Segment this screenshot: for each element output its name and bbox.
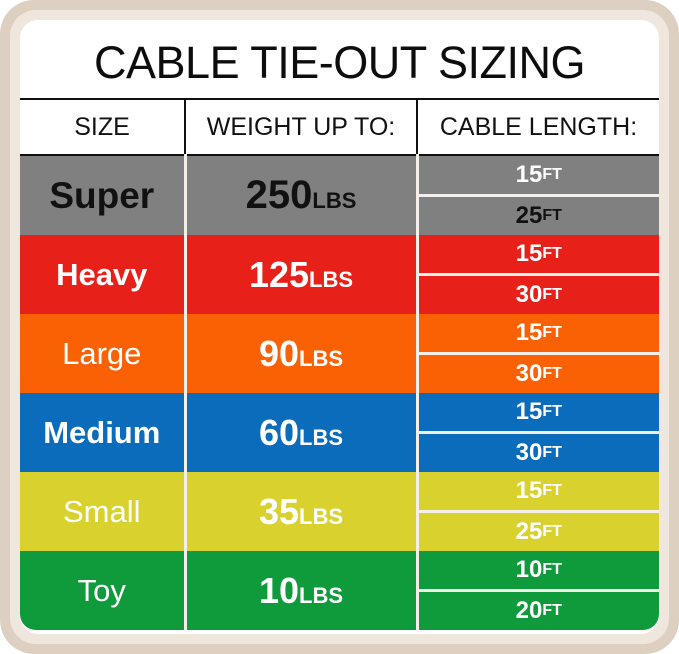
cell-cable-length: 15FT30FT <box>417 314 659 393</box>
cable-length-option: 25FT <box>419 197 660 235</box>
length-value: 15 <box>516 479 543 503</box>
cell-size: Medium <box>20 393 185 472</box>
column-header-cable-length: CABLE LENGTH: <box>417 99 659 155</box>
weight-unit: LBS <box>309 267 353 292</box>
table-row: Super250LBS15FT25FT <box>20 155 659 235</box>
table-header-row: SIZEWEIGHT UP TO:CABLE LENGTH: <box>20 99 659 155</box>
length-value: 25 <box>516 520 543 544</box>
length-unit: FT <box>542 483 562 499</box>
cable-length-option: 15FT <box>419 472 660 513</box>
weight-value: 60 <box>259 412 299 453</box>
cell-cable-length: 10FT20FT <box>417 551 659 630</box>
length-unit: FT <box>542 325 562 341</box>
length-unit: FT <box>542 167 562 183</box>
weight-value: 125 <box>249 254 309 295</box>
cell-weight: 125LBS <box>185 235 417 314</box>
length-unit: FT <box>542 524 562 540</box>
table-row: Large90LBS15FT30FT <box>20 314 659 393</box>
cable-length-option: 25FT <box>419 513 660 551</box>
cell-size: Small <box>20 472 185 551</box>
length-value: 25 <box>516 204 543 228</box>
cable-length-option: 15FT <box>419 393 660 434</box>
weight-value: 35 <box>259 491 299 532</box>
sizing-chart-card: CABLE TIE-OUT SIZING SIZEWEIGHT UP TO:CA… <box>20 20 659 634</box>
cable-length-option: 30FT <box>419 355 660 393</box>
weight-unit: LBS <box>299 583 343 608</box>
sizing-table: SIZEWEIGHT UP TO:CABLE LENGTH:Super250LB… <box>20 98 659 630</box>
cable-length-option: 10FT <box>419 551 660 592</box>
length-unit: FT <box>542 603 562 619</box>
length-unit: FT <box>542 404 562 420</box>
length-value: 15 <box>516 242 543 266</box>
cable-length-stack: 10FT20FT <box>419 551 660 630</box>
length-unit: FT <box>542 445 562 461</box>
weight-unit: LBS <box>299 504 343 529</box>
length-unit: FT <box>542 246 562 262</box>
column-header-weight-up-to: WEIGHT UP TO: <box>185 99 417 155</box>
length-value: 15 <box>516 321 543 345</box>
chart-inner-frame: CABLE TIE-OUT SIZING SIZEWEIGHT UP TO:CA… <box>10 10 669 644</box>
cell-size: Super <box>20 155 185 235</box>
length-unit: FT <box>542 208 562 224</box>
cable-length-option: 15FT <box>419 235 660 276</box>
cell-weight: 10LBS <box>185 551 417 630</box>
table-row: Medium60LBS15FT30FT <box>20 393 659 472</box>
cell-cable-length: 15FT30FT <box>417 393 659 472</box>
table-body: SIZEWEIGHT UP TO:CABLE LENGTH:Super250LB… <box>20 99 659 630</box>
length-value: 30 <box>516 441 543 465</box>
table-row: Heavy125LBS15FT30FT <box>20 235 659 314</box>
cable-length-stack: 15FT30FT <box>419 393 660 472</box>
cell-size: Toy <box>20 551 185 630</box>
cable-length-stack: 15FT30FT <box>419 314 660 393</box>
length-value: 30 <box>516 362 543 386</box>
page-title: CABLE TIE-OUT SIZING <box>20 20 659 98</box>
weight-value: 90 <box>259 333 299 374</box>
cell-cable-length: 15FT30FT <box>417 235 659 314</box>
cable-length-option: 15FT <box>419 156 660 197</box>
length-unit: FT <box>542 287 562 303</box>
length-value: 30 <box>516 283 543 307</box>
cell-weight: 90LBS <box>185 314 417 393</box>
column-header-size: SIZE <box>20 99 185 155</box>
cable-length-option: 30FT <box>419 276 660 314</box>
cable-length-stack: 15FT25FT <box>419 472 660 551</box>
cell-cable-length: 15FT25FT <box>417 155 659 235</box>
length-value: 10 <box>516 558 543 582</box>
length-value: 20 <box>516 599 543 623</box>
weight-unit: LBS <box>299 425 343 450</box>
cable-length-option: 30FT <box>419 434 660 472</box>
length-unit: FT <box>542 562 562 578</box>
table-row: Small35LBS15FT25FT <box>20 472 659 551</box>
cell-weight: 35LBS <box>185 472 417 551</box>
cell-weight: 250LBS <box>185 155 417 235</box>
weight-value: 250 <box>246 173 313 217</box>
length-value: 15 <box>516 163 543 187</box>
length-value: 15 <box>516 400 543 424</box>
cable-length-stack: 15FT30FT <box>419 235 660 314</box>
cell-size: Heavy <box>20 235 185 314</box>
weight-unit: LBS <box>299 346 343 371</box>
length-unit: FT <box>542 366 562 382</box>
weight-unit: LBS <box>312 188 356 213</box>
table-row: Toy10LBS10FT20FT <box>20 551 659 630</box>
cell-weight: 60LBS <box>185 393 417 472</box>
cable-length-stack: 15FT25FT <box>419 156 660 235</box>
cable-length-option: 20FT <box>419 592 660 630</box>
chart-outer-frame: CABLE TIE-OUT SIZING SIZEWEIGHT UP TO:CA… <box>0 0 679 654</box>
weight-value: 10 <box>259 570 299 611</box>
cell-size: Large <box>20 314 185 393</box>
cell-cable-length: 15FT25FT <box>417 472 659 551</box>
cable-length-option: 15FT <box>419 314 660 355</box>
